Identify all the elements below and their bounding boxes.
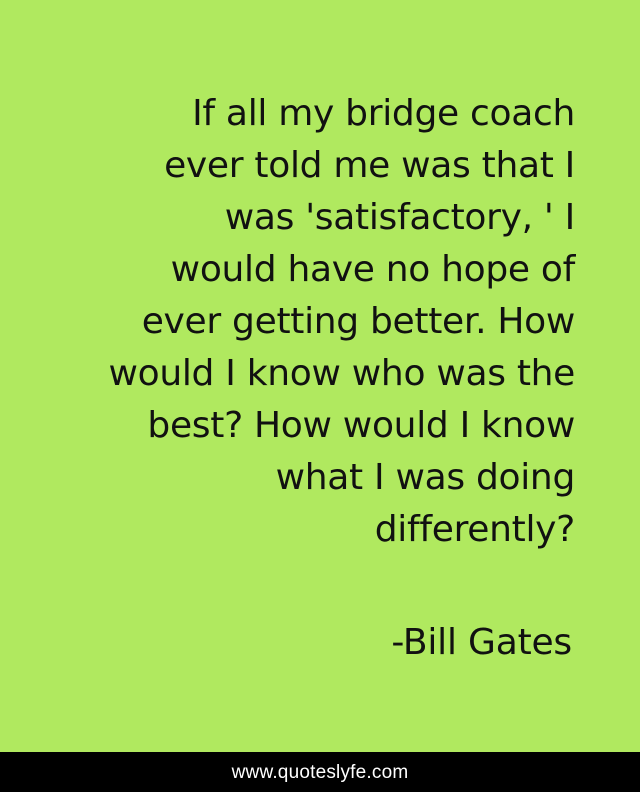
quote-author: -Bill Gates	[0, 621, 572, 665]
quote-card: If all my bridge coach ever told me was …	[0, 0, 640, 792]
footer-website-url[interactable]: www.quoteslyfe.com	[232, 763, 409, 782]
footer-bar: www.quoteslyfe.com	[0, 752, 640, 792]
quote-text: If all my bridge coach ever told me was …	[0, 88, 575, 556]
quote-body: If all my bridge coach ever told me was …	[0, 88, 575, 556]
